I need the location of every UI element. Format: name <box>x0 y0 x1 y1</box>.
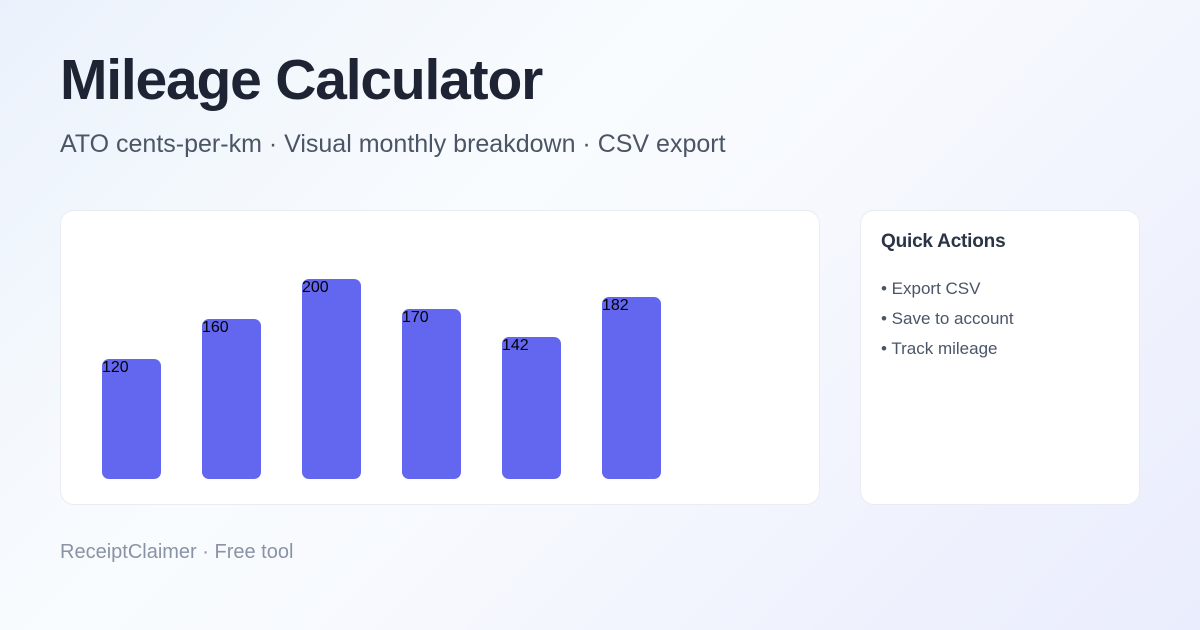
quick-action-item[interactable]: • Save to account <box>881 304 1119 334</box>
page-title: Mileage Calculator <box>60 52 726 109</box>
quick-actions-card: Quick Actions • Export CSV• Save to acco… <box>860 210 1140 505</box>
page-subtitle: ATO cents-per-km · Visual monthly breakd… <box>60 131 726 159</box>
chart-bar: 170 <box>402 309 461 479</box>
chart-bar: 120 <box>102 359 161 479</box>
chart-bar: 200 <box>302 279 361 479</box>
chart-bar: 142 <box>502 337 561 479</box>
monthly-mileage-bar-chart: 120160200170142182 <box>102 211 819 504</box>
page-header: Mileage Calculator ATO cents-per-km · Vi… <box>60 52 726 159</box>
quick-action-item[interactable]: • Track mileage <box>881 334 1119 364</box>
quick-action-item[interactable]: • Export CSV <box>881 274 1119 304</box>
quick-actions-title: Quick Actions <box>881 231 1119 254</box>
chart-bar: 160 <box>202 319 261 479</box>
quick-actions-list: • Export CSV• Save to account• Track mil… <box>881 274 1119 364</box>
mileage-chart-card: 120160200170142182 <box>60 210 820 505</box>
footer-attribution: ReceiptClaimer · Free tool <box>60 541 293 564</box>
chart-bar: 182 <box>602 297 661 479</box>
